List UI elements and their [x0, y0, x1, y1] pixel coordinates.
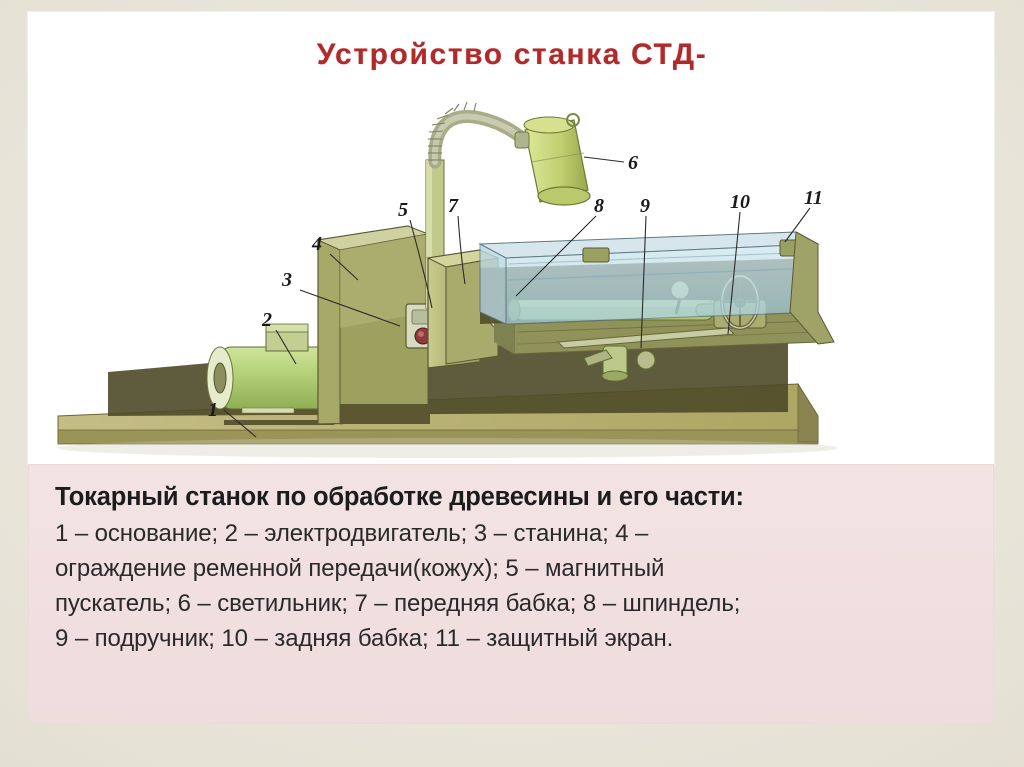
- callout-label-9: 9: [640, 195, 650, 217]
- callout-label-6: 6: [628, 152, 638, 174]
- slide-root: Схема токарного станка по дереву СТД с в…: [0, 0, 1024, 767]
- callout-label-3: 3: [281, 269, 292, 291]
- leader-line-6: [584, 157, 624, 162]
- caption-line-1: 1 – основание; 2 – электродвигатель; 3 –…: [55, 516, 971, 551]
- caption-heading: Токарный станок по обработке древесины и…: [55, 483, 971, 512]
- callout-label-1: 1: [208, 399, 218, 421]
- caption-line-2: ограждение ременной передачи(кожух); 5 –…: [55, 551, 971, 586]
- page-title: Устройство станка СТД-: [0, 38, 1024, 72]
- lathe-diagram-svg: Схема токарного станка по дереву СТД с в…: [28, 12, 994, 464]
- callout-label-7: 7: [448, 195, 459, 217]
- callout-label-2: 2: [261, 309, 272, 331]
- callout-label-11: 11: [804, 187, 823, 209]
- lamp-gooseneck: [428, 102, 522, 162]
- caption-panel: Токарный станок по обработке древесины и…: [28, 464, 994, 724]
- lathe-diagram: Схема токарного станка по дереву СТД с в…: [28, 12, 994, 464]
- callout-label-10: 10: [730, 191, 750, 213]
- callout-label-8: 8: [594, 195, 604, 217]
- caption-line-3: пускатель; 6 – светильник; 7 – передняя …: [55, 586, 971, 621]
- callout-label-5: 5: [398, 199, 408, 221]
- callout-label-4: 4: [311, 233, 322, 255]
- work-lamp: [515, 114, 590, 205]
- caption-line-4: 9 – подручник; 10 – задняя бабка; 11 – з…: [55, 621, 971, 656]
- machine-illustration: [58, 102, 838, 458]
